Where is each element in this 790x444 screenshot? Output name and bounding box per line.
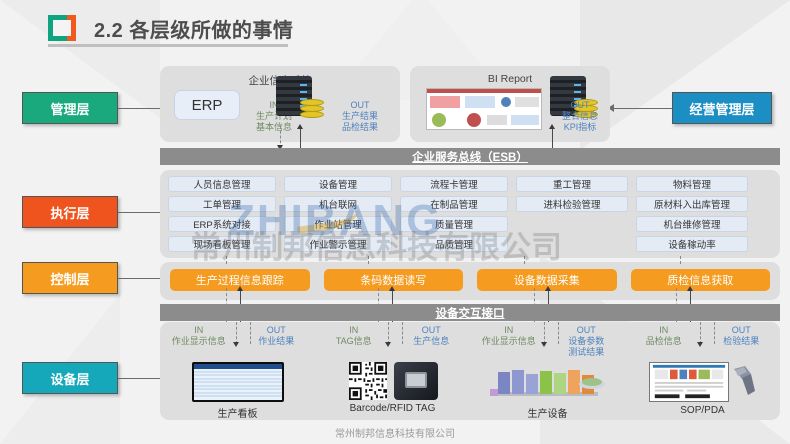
bi-out-label: OUT 整合信息 KPI指标 [552, 100, 608, 133]
bi-dashboard-icon [426, 88, 542, 130]
link-ctrl-3-dashed [524, 256, 525, 264]
dev-link-2b [402, 322, 403, 344]
device-caption: 生产设备 [528, 405, 568, 420]
device-item-production-line[interactable]: 生产设备 [470, 362, 625, 420]
device-io-label: INTAG信息 [315, 325, 393, 358]
device-layer-panel: IN作业显示信息 OUT作业结果 INTAG信息 OUT生产信息 IN作业显示信… [160, 322, 780, 420]
device-io-label: IN作业显示信息 [160, 325, 238, 358]
device-caption: Barcode/RFID TAG [350, 403, 436, 414]
dev-link-1a [236, 322, 237, 344]
device-item-barcode-rfid[interactable]: Barcode/RFID TAG [315, 362, 470, 420]
arrow-down-icon-d4 [697, 342, 703, 347]
dev-link-3a [544, 322, 545, 344]
device-io-label: OUT 设备参数测试结果 [548, 325, 626, 358]
bi-report-panel: BI Report OUT 整合信息 KPI指标 [410, 66, 610, 142]
link-erp-solid [300, 126, 301, 148]
page-header: 2.2 各层级所做的事情 [0, 8, 293, 48]
execution-layer-panel: 人员信息管理 工单管理 ERP系统对接 现场看板管理 设备管理 机台联网 作业站… [160, 170, 780, 258]
module-chip[interactable]: 作业警示管理 [284, 236, 392, 252]
module-chip[interactable]: 品质管理 [400, 236, 508, 252]
slide-canvas: 2.2 各层级所做的事情 管理层 执行层 控制层 设备层 经营管理层 企业信息系… [0, 0, 790, 444]
page-title: 2.2 各层级所做的事情 [94, 14, 293, 43]
layer-tag-device[interactable]: 设备层 [22, 362, 118, 394]
rfid-tag-icon [394, 362, 438, 400]
esb-bar: 企业服务总线（ESB） [160, 148, 780, 165]
module-chip[interactable]: 流程卡管理 [400, 176, 508, 192]
production-line-icon [488, 362, 608, 402]
dev-link-2a [388, 322, 389, 344]
title-underline [48, 44, 288, 47]
link-bi-solid [552, 126, 553, 148]
arrow-down-icon-d3 [541, 342, 547, 347]
control-button-row: 生产过程信息跟踪 条码数据读写 设备数据采集 质检信息获取 [170, 269, 770, 291]
module-chip[interactable]: 机台维修管理 [636, 216, 748, 232]
link-ctrl-1-dashed [226, 256, 227, 264]
device-io-label: IN品检信息 [625, 325, 703, 358]
device-caption: SOP/PDA [680, 405, 724, 416]
module-chip[interactable]: 进料检验管理 [516, 196, 628, 212]
arrow-up-icon-3 [545, 286, 551, 291]
control-button[interactable]: 质检信息获取 [631, 269, 771, 291]
dev-link-1b [250, 322, 251, 344]
execution-module-grid: 人员信息管理 工单管理 ERP系统对接 现场看板管理 设备管理 机台联网 作业站… [168, 176, 772, 252]
device-io-label: IN作业显示信息 [470, 325, 548, 358]
device-item-row: 生产看板 [160, 362, 780, 420]
arrow-down-icon-d2 [385, 342, 391, 347]
module-chip[interactable]: 设备稼动率 [636, 236, 748, 252]
module-chip[interactable]: 设备管理 [284, 176, 392, 192]
execution-column-1: 人员信息管理 工单管理 ERP系统对接 现场看板管理 [168, 176, 276, 252]
sop-document-icon [649, 362, 729, 402]
module-chip[interactable]: 物料管理 [636, 176, 748, 192]
layer-tag-business-management[interactable]: 经营管理层 [672, 92, 772, 124]
connector-control [118, 278, 162, 279]
device-caption: 生产看板 [218, 405, 258, 420]
device-interface-bar: 设备交互接口 [160, 304, 780, 321]
link-ctrl-2-dashed [368, 256, 369, 264]
arrow-up-icon-bi [549, 124, 555, 129]
execution-column-5: 物料管理 原材料入出库管理 机台维修管理 设备稼动率 [636, 176, 748, 252]
module-chip[interactable]: 现场看板管理 [168, 236, 276, 252]
arrow-up-icon-2 [389, 286, 395, 291]
connector-management [118, 108, 166, 109]
module-chip[interactable]: 人员信息管理 [168, 176, 276, 192]
erp-out-label: OUT 生产结果 品检结果 [330, 100, 390, 133]
square-outline-icon [48, 15, 76, 41]
execution-column-3: 流程卡管理 在制品管理 质量管理 品质管理 [400, 176, 508, 252]
module-chip[interactable]: 重工管理 [516, 176, 628, 192]
server-stack-icon [276, 76, 312, 116]
device-io-row: IN作业显示信息 OUT作业结果 INTAG信息 OUT生产信息 IN作业显示信… [160, 325, 780, 358]
layer-tag-management[interactable]: 管理层 [22, 92, 118, 124]
dev-link-4a [700, 322, 701, 344]
layer-tag-execution[interactable]: 执行层 [22, 196, 118, 228]
module-chip[interactable]: 在制品管理 [400, 196, 508, 212]
footer-text: 常州制邦信息科技有限公司 [0, 425, 790, 440]
dev-link-3b [558, 322, 559, 344]
connector-business [608, 108, 672, 109]
device-item-kanban[interactable]: 生产看板 [160, 362, 315, 420]
module-chip[interactable]: ERP系统对接 [168, 216, 276, 232]
device-item-sop-pda[interactable]: SOP/PDA [625, 362, 780, 420]
connector-execution [118, 212, 162, 213]
qrcode-icon [347, 362, 389, 400]
module-chip[interactable]: 质量管理 [400, 216, 508, 232]
execution-column-4: 重工管理 进料检验管理 [516, 176, 628, 252]
dev-link-4b [714, 322, 715, 344]
erp-button[interactable]: ERP [174, 90, 240, 120]
barcode-scanner-icon [731, 365, 757, 399]
arrow-down-icon-d1 [233, 342, 239, 347]
device-io-label: OUT生产信息 [393, 325, 471, 358]
arrow-up-icon-1 [237, 286, 243, 291]
control-layer-panel: 生产过程信息跟踪 条码数据读写 设备数据采集 质检信息获取 [160, 262, 780, 300]
link-ctrl-4-dashed [680, 256, 681, 264]
connector-device [118, 378, 162, 379]
arrow-up-icon-4 [687, 286, 693, 291]
layer-tag-control[interactable]: 控制层 [22, 262, 118, 294]
module-chip[interactable]: 原材料入出库管理 [636, 196, 748, 212]
kanban-screen-icon [192, 362, 284, 402]
arrow-up-icon-erp [297, 124, 303, 129]
module-chip[interactable]: 工单管理 [168, 196, 276, 212]
